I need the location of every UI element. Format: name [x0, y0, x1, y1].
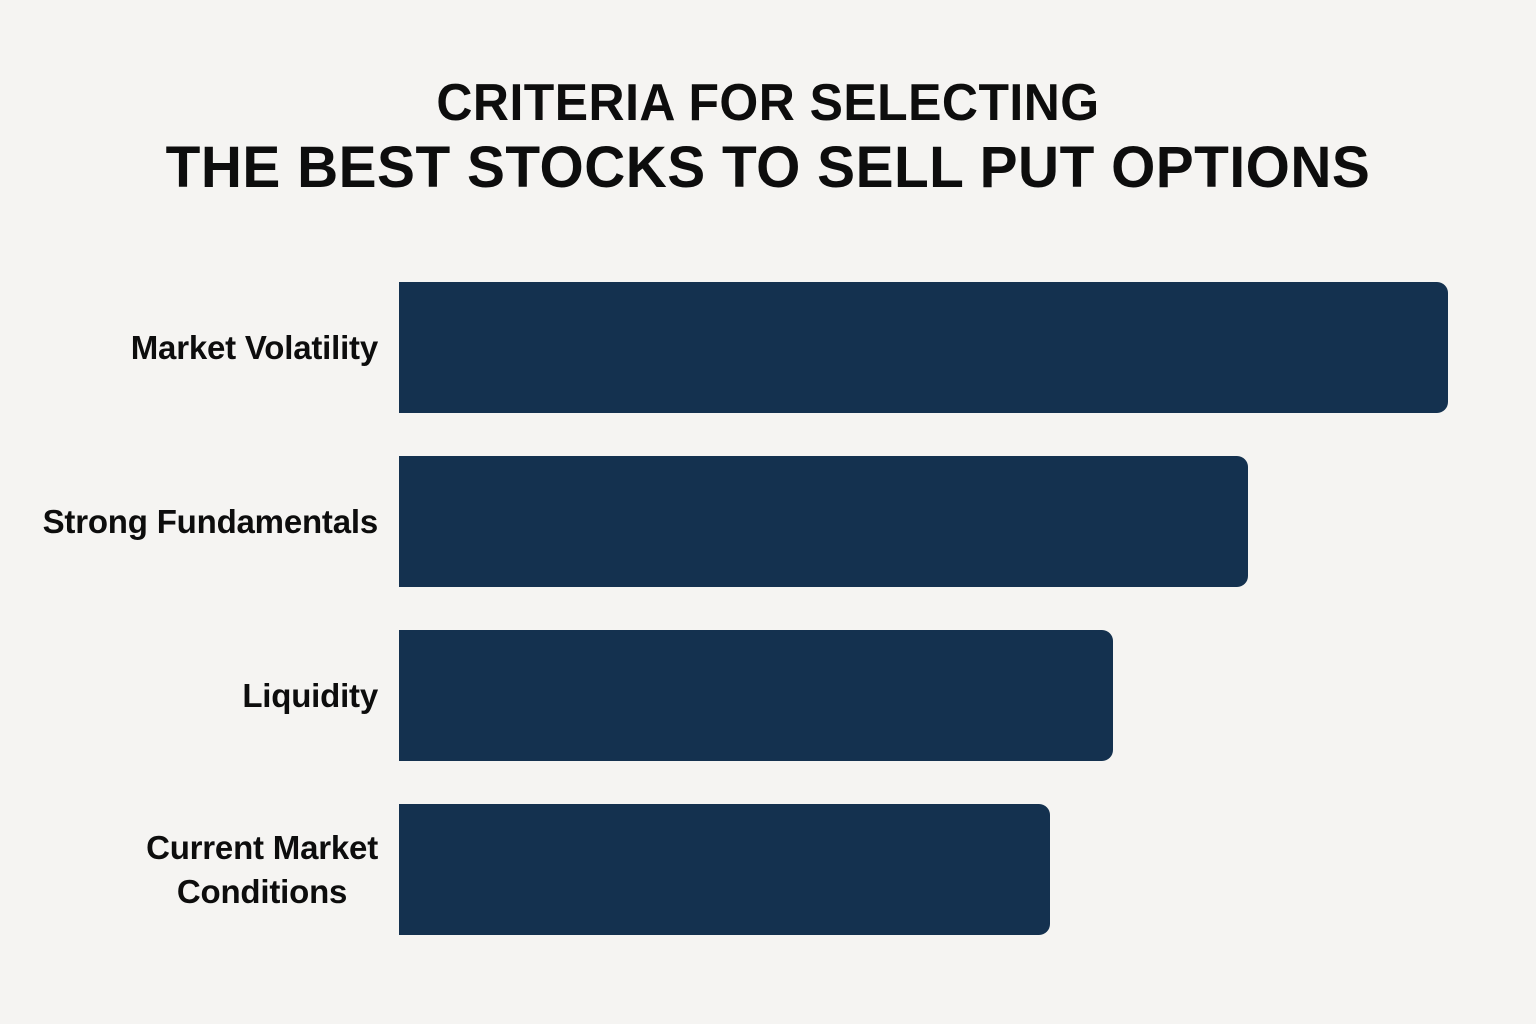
- bar-fill[interactable]: [399, 456, 1248, 587]
- bar-track: [399, 804, 1499, 935]
- bar-category-label-line: Conditions: [146, 870, 378, 914]
- bar-fill[interactable]: [399, 630, 1113, 761]
- bar-track: [399, 456, 1499, 587]
- bar-row: Current MarketConditions: [0, 804, 1536, 935]
- infographic-canvas: CRITERIA FOR SELECTING THE BEST STOCKS T…: [0, 0, 1536, 1024]
- chart-title-line-1: CRITERIA FOR SELECTING: [31, 72, 1506, 134]
- bar-row: Market Volatility: [0, 282, 1536, 413]
- bar-category-label: Market Volatility: [0, 282, 382, 413]
- bar-category-label-line: Liquidity: [242, 674, 378, 718]
- horizontal-bar-chart: Market VolatilityStrong FundamentalsLiqu…: [0, 282, 1536, 922]
- bar-category-label-line: Strong Fundamentals: [43, 500, 378, 544]
- bar-fill[interactable]: [399, 804, 1050, 935]
- bar-category-label: Strong Fundamentals: [0, 456, 382, 587]
- chart-title: CRITERIA FOR SELECTING THE BEST STOCKS T…: [0, 72, 1536, 202]
- bar-row: Liquidity: [0, 630, 1536, 761]
- bar-fill[interactable]: [399, 282, 1448, 413]
- bar-row: Strong Fundamentals: [0, 456, 1536, 587]
- bar-track: [399, 630, 1499, 761]
- bar-category-label: Liquidity: [0, 630, 382, 761]
- bar-category-label: Current MarketConditions: [0, 804, 382, 935]
- bar-track: [399, 282, 1499, 413]
- bar-category-label-line: Current Market: [146, 826, 378, 870]
- chart-title-line-2: THE BEST STOCKS TO SELL PUT OPTIONS: [15, 134, 1520, 202]
- bar-category-label-line: Market Volatility: [131, 326, 378, 370]
